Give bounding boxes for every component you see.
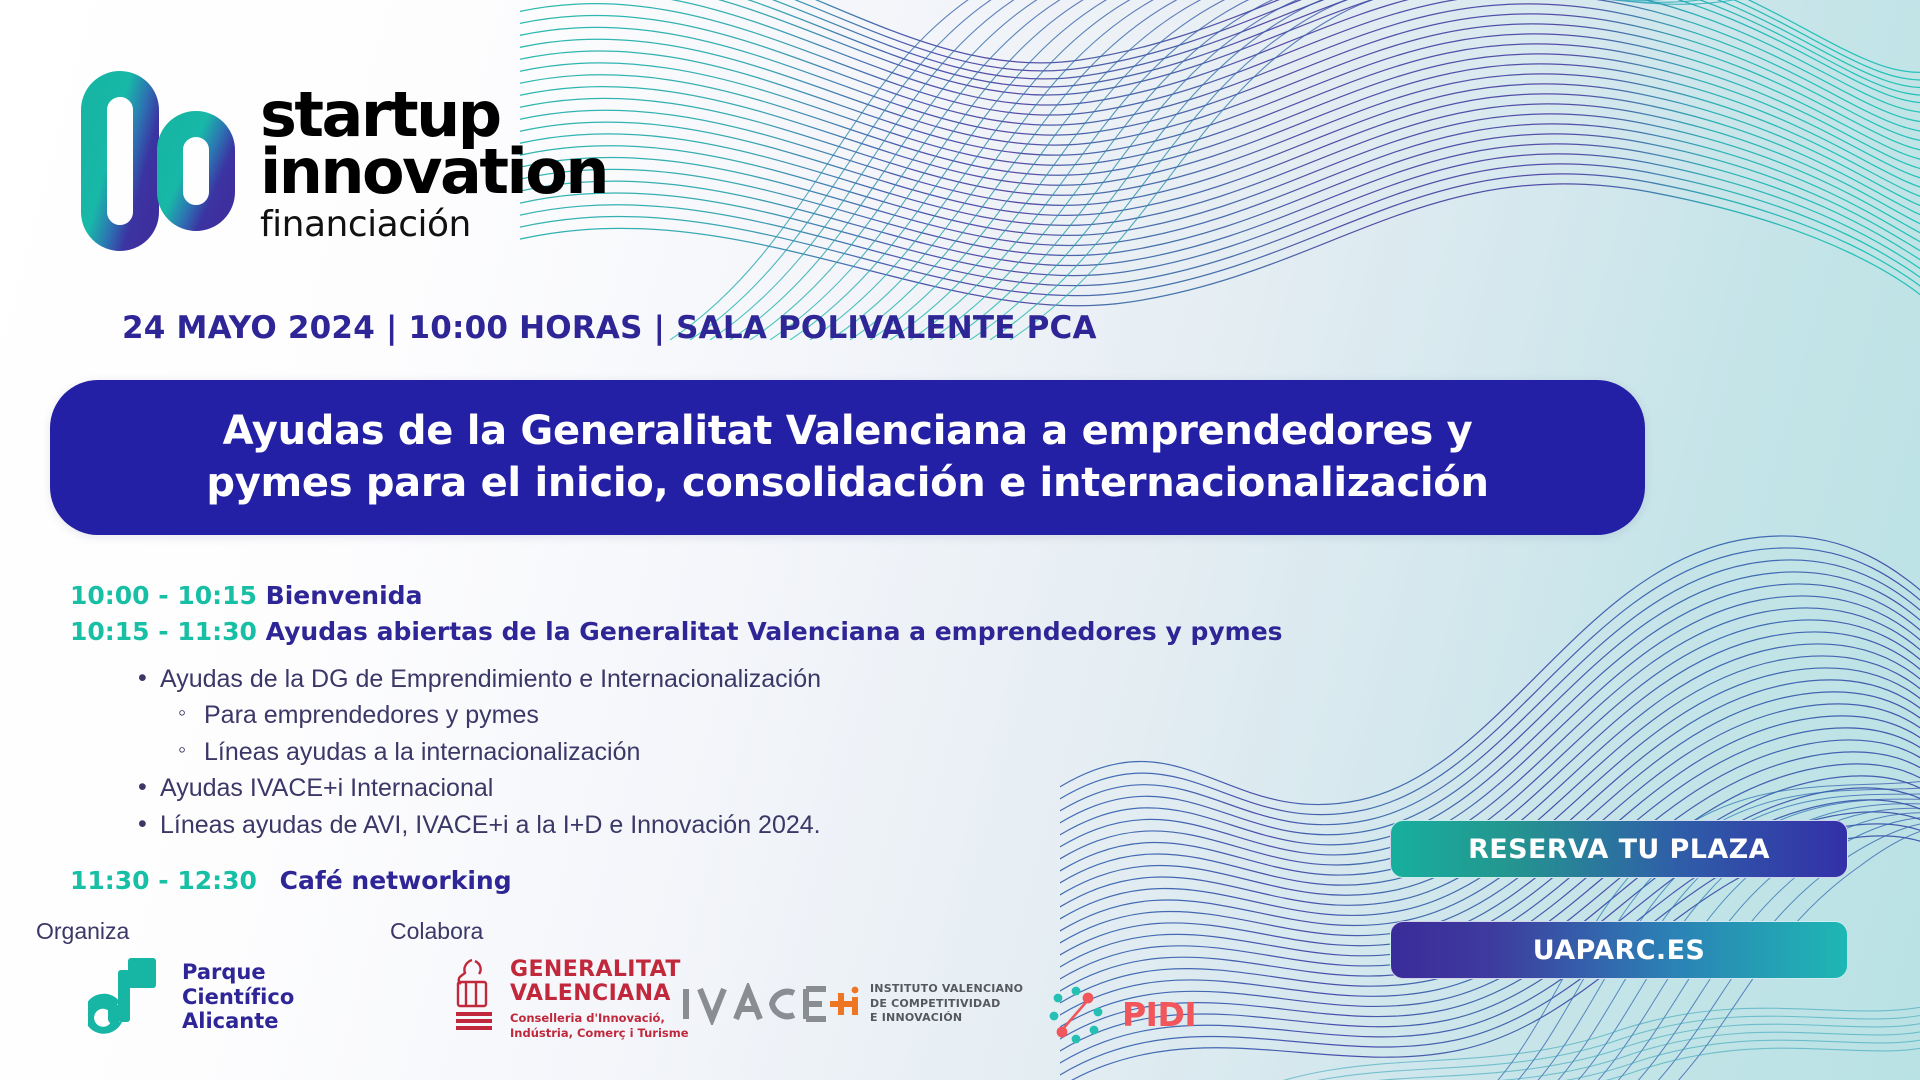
agenda-time: 10:00 - 10:15 bbox=[70, 581, 257, 610]
list-item: Para emprendedores y pymes bbox=[132, 697, 1300, 734]
organiza-caption: Organiza bbox=[36, 918, 129, 945]
colabora-caption: Colabora bbox=[390, 918, 483, 945]
lp-monogram-icon bbox=[66, 62, 242, 258]
agenda-time: 10:15 - 11:30 bbox=[70, 617, 257, 646]
list-item: Líneas ayudas a la internacionalización bbox=[132, 734, 1300, 771]
agenda-row: 10:15 - 11:30 Ayudas abiertas de la Gene… bbox=[70, 614, 1300, 650]
agenda-section: 10:00 - 10:15 Bienvenida 10:15 - 11:30 A… bbox=[70, 578, 1300, 899]
brand-wordmark: startup innovation financiación bbox=[260, 78, 607, 241]
parque-cientifico-alicante-logo: Parque Científico Alicante bbox=[88, 958, 294, 1036]
agenda-title: Bienvenida bbox=[266, 581, 423, 610]
list-item: Ayudas de la DG de Emprendimiento e Inte… bbox=[132, 661, 1300, 698]
brand-logo: startup innovation financiación bbox=[66, 62, 607, 258]
list-item: Ayudas IVACE+i Internacional bbox=[132, 770, 1300, 807]
gva-conselleria-label: Conselleria d'Innovació, Indústria, Come… bbox=[510, 1011, 689, 1041]
ivace-subtitle: INSTITUTO VALENCIANO DE COMPETITIVIDAD E… bbox=[870, 982, 1023, 1026]
agenda-title: Café networking bbox=[280, 866, 512, 895]
uaparc-website-button[interactable]: UAPARC.ES bbox=[1390, 921, 1848, 979]
event-title-banner: Ayudas de la Generalitat Valenciana a em… bbox=[50, 380, 1645, 535]
agenda-time: 11:30 - 12:30 bbox=[70, 866, 257, 895]
gva-line-1: GENERALITAT bbox=[510, 958, 689, 982]
pidi-label: PIDI bbox=[1122, 995, 1196, 1034]
reserva-tu-plaza-button[interactable]: RESERVA TU PLAZA bbox=[1390, 820, 1848, 878]
wave-decoration-top bbox=[520, 0, 1920, 340]
event-poster: startup innovation financiación 24 MAYO … bbox=[0, 0, 1920, 1080]
brand-word-innovation: innovation bbox=[260, 143, 607, 200]
brand-tagline: financiación bbox=[260, 208, 607, 241]
parque-cientifico-note-icon bbox=[88, 958, 168, 1036]
agenda-row: 10:00 - 10:15 Bienvenida bbox=[70, 578, 1300, 614]
agenda-bullet-list: Ayudas de la DG de Emprendimiento e Inte… bbox=[132, 661, 1300, 844]
pidi-logo: PIDI bbox=[1040, 978, 1196, 1050]
ivace-logo: INSTITUTO VALENCIANO DE COMPETITIVIDAD E… bbox=[680, 982, 1023, 1026]
agenda-title: Ayudas abiertas de la Generalitat Valenc… bbox=[266, 617, 1283, 646]
parque-cientifico-label: Parque Científico Alicante bbox=[182, 960, 294, 1034]
generalitat-valenciana-crest-icon bbox=[448, 956, 500, 1034]
page-title: Ayudas de la Generalitat Valenciana a em… bbox=[172, 406, 1522, 508]
event-date-line: 24 MAYO 2024 | 10:00 HORAS | SALA POLIVA… bbox=[122, 310, 1097, 346]
generalitat-valenciana-logo: GENERALITAT VALENCIANA Conselleria d'Inn… bbox=[448, 956, 689, 1041]
ivace-wordmark-icon bbox=[680, 983, 860, 1025]
agenda-row: 11:30 - 12:30 Café networking bbox=[70, 863, 1300, 899]
list-item: Líneas ayudas de AVI, IVACE+i a la I+D e… bbox=[132, 807, 1300, 844]
gva-line-2: VALENCIANA bbox=[510, 982, 689, 1006]
pidi-dots-icon bbox=[1040, 978, 1112, 1050]
